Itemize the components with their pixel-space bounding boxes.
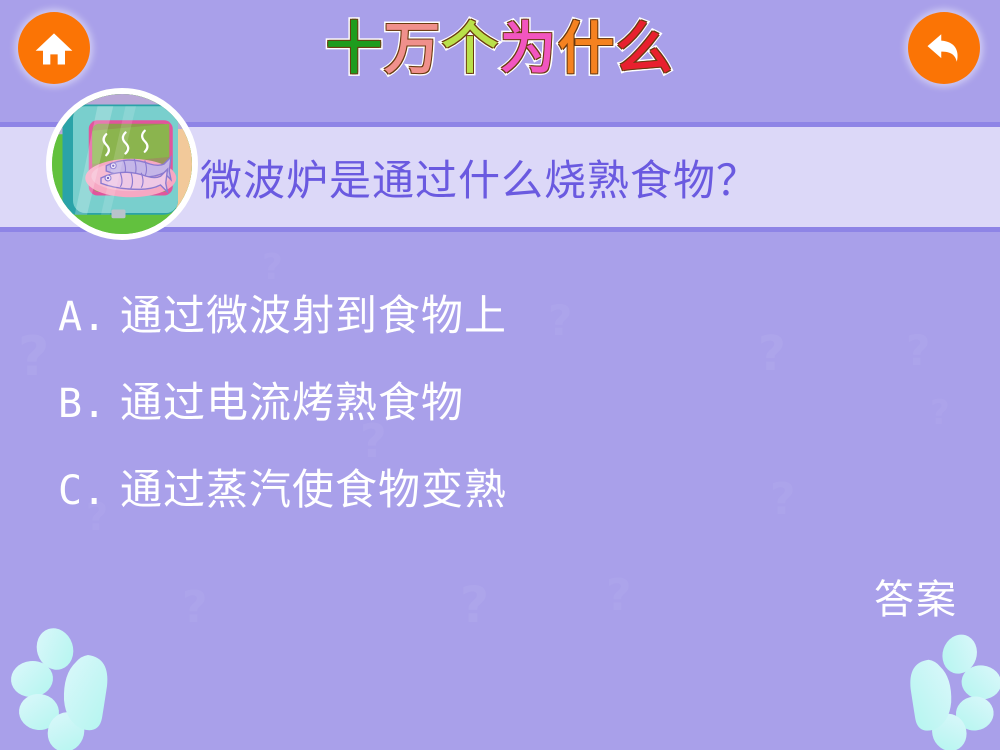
title-char-4: 什: [558, 22, 616, 78]
quiz-screen: ??????????????? 十万个为什么 微波炉是通过什么烧熟食物？: [0, 0, 1000, 750]
question-mark-watermark-0: ?: [18, 330, 49, 384]
page-title: 十万个为什么: [0, 22, 1000, 78]
option-b-letter: B.: [58, 381, 120, 427]
option-a-letter: A.: [58, 294, 120, 340]
title-char-1: 万: [384, 22, 442, 78]
question-mark-watermark-9: ?: [770, 478, 796, 522]
option-c-letter: C.: [58, 468, 120, 514]
option-c-text: 通过蒸汽使食物变熟: [120, 456, 507, 517]
question-mark-watermark-12: ?: [930, 396, 950, 430]
home-button[interactable]: [18, 12, 90, 84]
question-text: 微波炉是通过什么烧熟食物？: [200, 147, 759, 208]
back-arrow-icon: [922, 26, 966, 70]
title-char-0: 十: [326, 22, 384, 78]
title-char-2: 个: [442, 22, 500, 78]
option-a[interactable]: A. 通过微波射到食物上: [58, 282, 507, 343]
option-b-text: 通过电流烤熟食物: [120, 369, 464, 430]
options-list: A. 通过微波射到食物上 B. 通过电流烤熟食物 C. 通过蒸汽使食物变熟: [58, 282, 507, 543]
question-mark-watermark-1: ?: [182, 586, 208, 630]
question-mark-watermark-5: ?: [548, 300, 572, 342]
home-icon: [32, 26, 76, 70]
question-mark-watermark-6: ?: [606, 574, 632, 618]
back-button[interactable]: [908, 12, 980, 84]
title-char-3: 为: [500, 22, 558, 78]
option-b[interactable]: B. 通过电流烤熟食物: [58, 369, 507, 430]
question-mark-watermark-8: ?: [758, 330, 786, 378]
question-mark-watermark-4: ?: [460, 580, 489, 630]
question-mark-watermark-14: ?: [262, 250, 283, 286]
option-a-text: 通过微波射到食物上: [120, 282, 507, 343]
question-thumbnail: [46, 88, 198, 240]
paw-print-left-icon: [8, 622, 148, 750]
microwave-with-fish-illustration: [52, 94, 192, 234]
question-mark-watermark-11: ?: [906, 330, 930, 372]
show-answer-button[interactable]: 答案: [874, 567, 958, 625]
paw-print-right-icon: [872, 628, 1000, 750]
option-c[interactable]: C. 通过蒸汽使食物变熟: [58, 456, 507, 517]
title-char-5: 么: [616, 22, 674, 78]
